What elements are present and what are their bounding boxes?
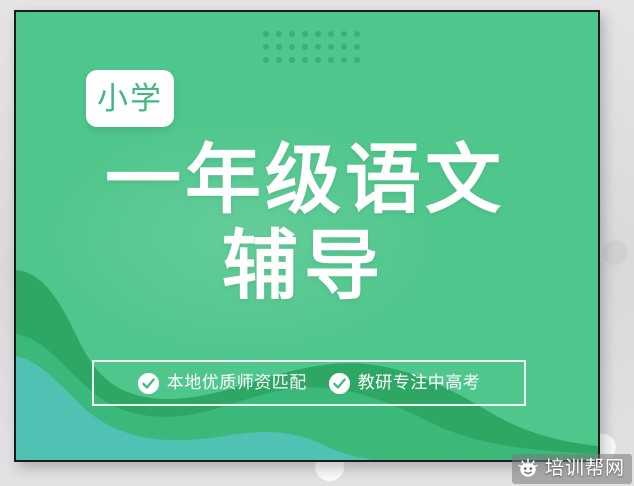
watermark-text: 培训帮网 bbox=[545, 458, 625, 480]
feature-item: 本地优质师资匹配 bbox=[138, 373, 307, 394]
poster-card: 小学 一年级语文 辅导 本地优质师资匹配 bbox=[14, 10, 600, 462]
page-title: 一年级语文 辅导 bbox=[16, 138, 598, 310]
poster-image: 小学 一年级语文 辅导 本地优质师资匹配 bbox=[0, 0, 634, 486]
grade-level-tag-label: 小学 bbox=[97, 83, 163, 114]
feature-list: 本地优质师资匹配 教研专注中高考 bbox=[92, 360, 526, 406]
grade-level-tag: 小学 bbox=[86, 70, 174, 127]
dot-grid-icon bbox=[263, 31, 367, 70]
feature-item-label: 教研专注中高考 bbox=[358, 373, 481, 393]
headline-line-1: 一年级语文 bbox=[16, 138, 598, 224]
headline-line-2: 辅导 bbox=[16, 224, 598, 310]
feature-item: 教研专注中高考 bbox=[329, 373, 481, 394]
sun-face-logo-icon bbox=[517, 458, 539, 480]
watermark: 培训帮网 bbox=[512, 454, 632, 484]
feature-item-label: 本地优质师资匹配 bbox=[167, 373, 307, 393]
check-circle-icon bbox=[329, 373, 350, 394]
check-circle-icon bbox=[138, 373, 159, 394]
